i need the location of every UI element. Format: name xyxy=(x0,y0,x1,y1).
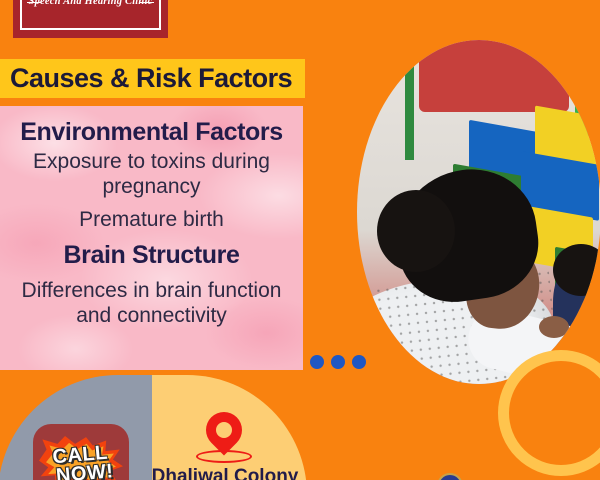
decor-dot-1 xyxy=(310,355,324,369)
photo-child-hand xyxy=(539,316,569,338)
page-title: Causes & Risk Factors xyxy=(0,63,292,94)
badge-icon xyxy=(437,473,463,480)
photo-green-pole xyxy=(405,40,414,160)
poster-canvas: AYUSH Speech And Hearing Clinic Causes &… xyxy=(0,0,600,480)
therapy-session-photo xyxy=(357,40,600,384)
photo-therapist-bun xyxy=(377,190,455,272)
content-panel-body: Environmental Factors Exposure to toxins… xyxy=(0,106,303,328)
call-now-badge[interactable]: CALL NOW! xyxy=(33,424,129,480)
address-text: Dhaliwal Colony xyxy=(120,466,330,480)
logo-tagline: Speech And Hearing Clinic xyxy=(13,0,168,7)
text-brain-function-differences: Differences in brain function and connec… xyxy=(8,278,295,328)
text-exposure-to-toxins: Exposure to toxins during pregnancy xyxy=(8,149,295,199)
section-heading-banner: Causes & Risk Factors xyxy=(0,59,305,98)
decor-dot-3 xyxy=(352,355,366,369)
photo-child-head xyxy=(553,244,600,296)
content-panel: Environmental Factors Exposure to toxins… xyxy=(0,106,303,370)
map-pin-shadow-ellipse xyxy=(196,450,252,463)
map-pin-icon xyxy=(199,405,250,456)
location-pin-group xyxy=(196,412,252,464)
subheading-environmental-factors: Environmental Factors xyxy=(8,118,295,147)
clinic-logo: AYUSH Speech And Hearing Clinic xyxy=(13,0,168,38)
subheading-brain-structure: Brain Structure xyxy=(8,241,295,270)
text-premature-birth: Premature birth xyxy=(8,207,295,232)
decor-dot-2 xyxy=(331,355,345,369)
photo-red-panel xyxy=(419,40,569,112)
